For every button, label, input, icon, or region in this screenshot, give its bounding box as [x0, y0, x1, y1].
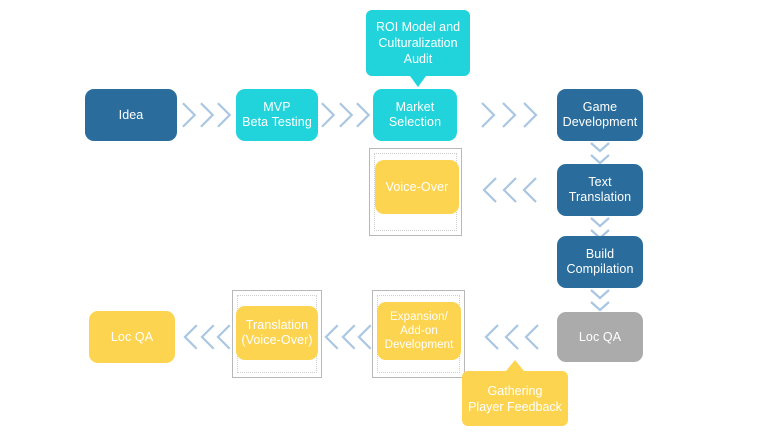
arrows-build-compilation-to-loc-qa: [588, 288, 612, 312]
chevron-down-icon: [588, 300, 612, 312]
callout-tail-icon: [410, 76, 426, 87]
chevron-right-icon: [320, 100, 337, 130]
arrows-idea-to-mvp: [181, 100, 233, 130]
node-build-compilation-label: Build Compilation: [566, 247, 633, 277]
arrows-game-development-to-text-translation: [588, 141, 612, 165]
chevron-left-icon: [483, 322, 500, 352]
chevron-right-icon: [199, 100, 216, 130]
node-idea-label: Idea: [119, 108, 144, 123]
node-market-selection-label: Market Selection: [389, 100, 441, 130]
callout-gathering-player-feedback[interactable]: Gathering Player Feedback: [462, 371, 568, 426]
chevron-right-icon: [501, 100, 518, 130]
node-game-development-label: Game Development: [563, 100, 638, 130]
node-text-translation-label: Text Translation: [569, 175, 631, 205]
chevron-down-icon: [588, 216, 612, 228]
arrows-market-to-game-development: [480, 100, 542, 130]
node-market-selection[interactable]: Market Selection: [373, 89, 457, 141]
chevron-left-icon: [323, 322, 340, 352]
node-translation-voice-over-label: Translation (Voice-Over): [241, 318, 312, 348]
node-expansion-addon-development-label: Expansion/ Add-on Development: [385, 310, 454, 352]
chevron-left-icon: [481, 175, 498, 205]
node-build-compilation[interactable]: Build Compilation: [557, 236, 643, 288]
node-translation-voice-over[interactable]: Translation (Voice-Over): [236, 306, 318, 360]
chevron-left-icon: [356, 322, 373, 352]
node-loc-qa-right[interactable]: Loc QA: [557, 312, 643, 362]
chevron-left-icon: [182, 322, 199, 352]
arrows-translation-to-loc-qa: [182, 322, 232, 352]
node-loc-qa-right-label: Loc QA: [579, 330, 621, 345]
callout-tail-icon: [506, 360, 524, 371]
chevron-left-icon: [521, 175, 538, 205]
node-voice-over-label: Voice-Over: [386, 180, 449, 195]
node-mvp-beta-testing-label: MVP Beta Testing: [242, 100, 312, 130]
chevron-left-icon: [215, 322, 232, 352]
node-game-development[interactable]: Game Development: [557, 89, 643, 141]
chevron-down-icon: [588, 141, 612, 153]
chevron-left-icon: [199, 322, 216, 352]
chevron-left-icon: [503, 322, 520, 352]
chevron-right-icon: [338, 100, 355, 130]
chevron-right-icon: [181, 100, 198, 130]
callout-roi-model[interactable]: ROI Model and Culturalization Audit: [366, 10, 470, 76]
chevron-left-icon: [523, 322, 540, 352]
chevron-left-icon: [340, 322, 357, 352]
node-voice-over[interactable]: Voice-Over: [375, 160, 459, 214]
node-text-translation[interactable]: Text Translation: [557, 164, 643, 216]
chevron-down-icon: [588, 288, 612, 300]
arrows-mvp-to-market: [320, 100, 372, 130]
node-loc-qa-left-label: Loc QA: [111, 330, 153, 345]
chevron-right-icon: [522, 100, 539, 130]
chevron-right-icon: [216, 100, 233, 130]
callout-roi-model-label: ROI Model and Culturalization Audit: [376, 19, 460, 67]
node-mvp-beta-testing[interactable]: MVP Beta Testing: [236, 89, 318, 141]
callout-gathering-player-feedback-label: Gathering Player Feedback: [468, 383, 562, 415]
arrows-loc-qa-to-expansion: [483, 322, 545, 352]
node-idea[interactable]: Idea: [85, 89, 177, 141]
chevron-right-icon: [480, 100, 497, 130]
chevron-right-icon: [355, 100, 372, 130]
arrows-text-translation-to-voice-over: [481, 175, 543, 205]
node-loc-qa-left[interactable]: Loc QA: [89, 311, 175, 363]
flowchart-canvas: ROI Model and Culturalization Audit Idea…: [0, 0, 768, 432]
chevron-left-icon: [501, 175, 518, 205]
node-expansion-addon-development[interactable]: Expansion/ Add-on Development: [377, 302, 461, 360]
arrows-expansion-to-translation: [323, 322, 373, 352]
